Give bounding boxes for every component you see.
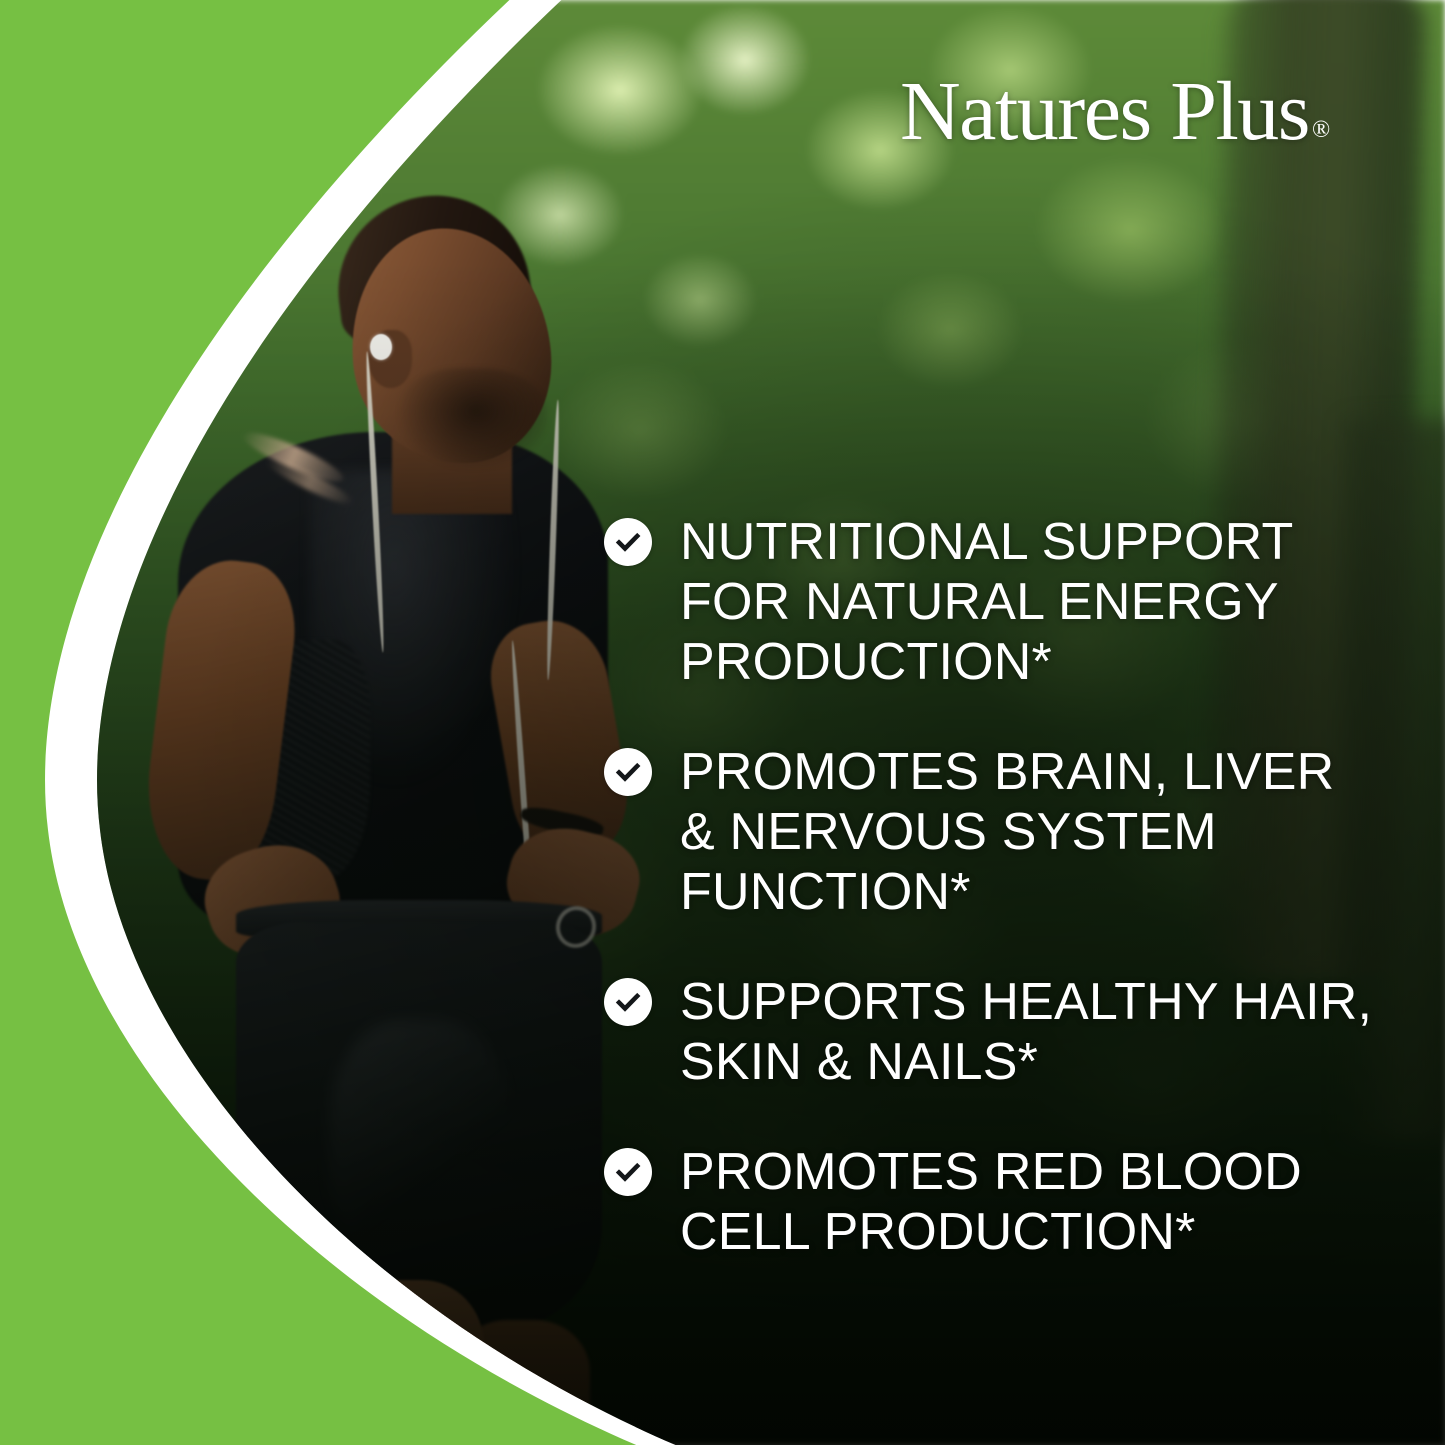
check-icon xyxy=(604,978,652,1026)
benefit-text: PROMOTES RED BLOOD CELL PRODUCTION* xyxy=(680,1142,1302,1262)
brand-logo: Natures Plus ® xyxy=(900,70,1330,154)
check-icon xyxy=(604,518,652,566)
benefit-text: SUPPORTS HEALTHY HAIR, SKIN & NAILS* xyxy=(680,972,1372,1092)
check-icon xyxy=(604,748,652,796)
list-item: PROMOTES BRAIN, LIVER & NERVOUS SYSTEM F… xyxy=(604,742,1374,922)
list-item: SUPPORTS HEALTHY HAIR, SKIN & NAILS* xyxy=(604,972,1374,1092)
benefit-text: PROMOTES BRAIN, LIVER & NERVOUS SYSTEM F… xyxy=(680,742,1334,922)
registered-trademark-icon: ® xyxy=(1312,118,1330,142)
benefit-text: NUTRITIONAL SUPPORT FOR NATURAL ENERGY P… xyxy=(680,512,1293,692)
list-item: NUTRITIONAL SUPPORT FOR NATURAL ENERGY P… xyxy=(604,512,1374,692)
product-benefits-banner: Natures Plus ® NUTRITIONAL SUPPORT FOR N… xyxy=(0,0,1445,1445)
check-icon xyxy=(604,1148,652,1196)
list-item: PROMOTES RED BLOOD CELL PRODUCTION* xyxy=(604,1142,1374,1262)
brand-logo-wordmark: Natures Plus xyxy=(900,70,1309,154)
benefits-list: NUTRITIONAL SUPPORT FOR NATURAL ENERGY P… xyxy=(604,512,1374,1262)
